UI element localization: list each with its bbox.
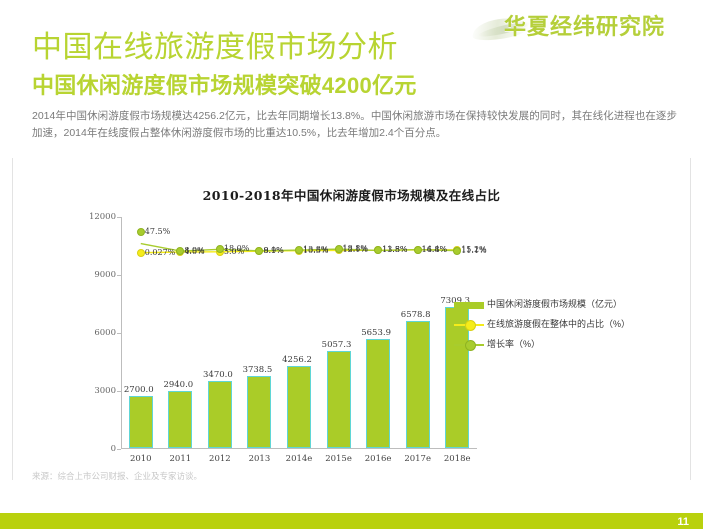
y-tick-mark [117,449,121,450]
chart-frame: 2010-2018年中国休闲游度假市场规模及在线占比 0300060009000… [12,158,691,480]
x-tick-label: 2014e [286,454,313,464]
line-value-label: 47.5% [145,227,170,236]
chart-plot-area: 030006000900012000 2700.02940.03470.0373… [121,217,477,449]
page-subtitle: 中国休闲游度假市场规模突破4200亿元 [32,68,417,100]
legend-label: 增长率（%） [487,338,540,350]
data-point-marker [216,245,224,253]
x-tick-label: 2011 [170,454,192,464]
x-tick-label: 2012 [209,454,231,464]
y-tick-label: 0 [111,444,116,454]
line-value-label: 11.8% [382,245,407,254]
line-value-label: 16.4% [422,245,447,254]
data-point-marker [374,246,382,254]
line-value-label: 13.8% [303,245,328,254]
company-logo: 华夏经纬研究院 [472,9,662,43]
legend-bar-swatch [454,302,484,309]
x-tick-label: 2017e [404,454,431,464]
x-tick-label: 2010 [130,454,152,464]
data-point-marker [335,245,343,253]
y-tick-label: 9000 [94,270,116,280]
x-tick-label: 2016e [365,454,392,464]
line-series: 0.027%4.0%5.0%8.1%10.5%12.1%13.5%14.8%15… [121,217,477,449]
legend-swatch [453,339,487,351]
legend-label: 在线旅游度假在整体中的占比（%） [487,318,630,330]
logo-text: 华夏经纬研究院 [504,9,665,41]
legend-swatch [453,299,487,311]
line-value-label: 18.8% [343,244,368,253]
data-point-marker [255,247,263,255]
legend-item[interactable]: 中国休闲游度假市场规模（亿元） [453,298,653,311]
data-point-marker [295,246,303,254]
x-tick-label: 2015e [325,454,352,464]
x-tick-label: 2013 [249,454,271,464]
legend-item[interactable]: 增长率（%） [453,338,653,351]
y-tick-label: 12000 [89,212,116,222]
data-point-marker [137,228,145,236]
data-point-marker [137,249,145,257]
line-value-label: 11.1% [461,246,486,255]
data-point-marker [453,247,461,255]
chart-title: 2010-2018年中国休闲游度假市场规模及在线占比 [13,185,690,204]
line-value-label: 0.027% [145,248,176,257]
legend-dot-swatch [465,340,476,351]
data-point-marker [414,246,422,254]
line-value-label: 9.9% [263,246,283,255]
page-number: 11 [677,516,689,528]
legend-label: 中国休闲游度假市场规模（亿元） [487,298,622,310]
source-note: 来源：综合上市公司财报、企业及专家访谈。 [32,470,202,482]
legend-dot-swatch [465,320,476,331]
page-footer-bar: 11 [0,513,703,529]
intro-paragraph: 2014年中国休闲游度假市场规模达4256.2亿元，比去年同期增长13.8%。中… [32,108,677,142]
slide: 华夏经纬研究院 中国在线旅游度假市场分析 中国休闲游度假市场规模突破4200亿元… [0,0,703,529]
legend-swatch [453,319,487,331]
x-tick-label: 2018e [444,454,471,464]
chart-legend: 中国休闲游度假市场规模（亿元）在线旅游度假在整体中的占比（%）增长率（%） [453,298,653,358]
y-tick-label: 6000 [94,328,116,338]
line-value-label: 8.9% [184,246,204,255]
y-tick-label: 3000 [94,386,116,396]
page-title: 中国在线旅游度假市场分析 [32,22,398,66]
legend-item[interactable]: 在线旅游度假在整体中的占比（%） [453,318,653,331]
line-value-label: 18.0% [224,244,249,253]
data-point-marker [176,247,184,255]
